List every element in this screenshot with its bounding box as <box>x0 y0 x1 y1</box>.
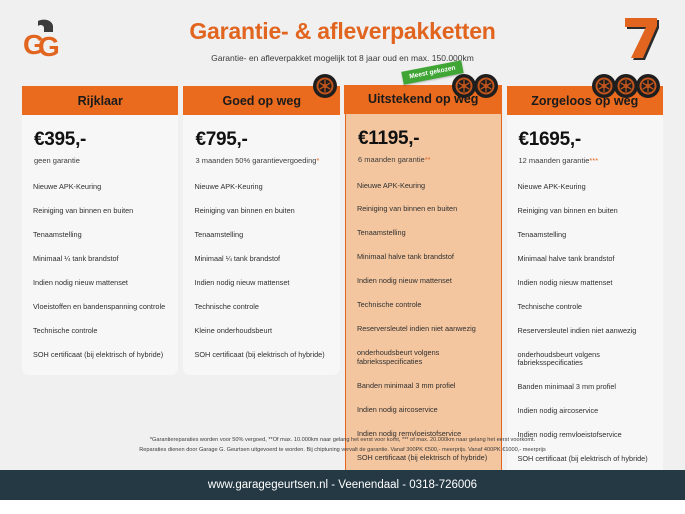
feature-list: Nieuwe APK-Keuring Reiniging van binnen … <box>346 168 501 479</box>
list-item: Technische controle <box>518 303 652 312</box>
page-title: Garantie- & afleverpakketten <box>0 0 685 45</box>
gg-logo-icon: G G <box>22 18 68 60</box>
wheel-rating <box>595 73 661 99</box>
promo-page: G G Garantie- & afleverpakketten Garanti… <box>0 0 685 514</box>
list-item: Indien nodig nieuw mattenset <box>357 277 490 286</box>
list-item: Reiniging van binnen en buiten <box>33 207 167 216</box>
list-item: Indien nodig nieuw mattenset <box>194 279 328 288</box>
feature-list: Nieuwe APK-Keuring Reiniging van binnen … <box>507 169 663 480</box>
list-item: Technische controle <box>194 303 328 312</box>
wheel-rating <box>455 73 499 99</box>
list-item: Tenaamstelling <box>518 231 652 240</box>
page-footer: www.garagegeurtsen.nl - Veenendaal - 031… <box>0 470 685 500</box>
list-item: onderhoudsbeurt volgens fabrieksspecific… <box>357 349 490 367</box>
footnote-line-2: Reparaties dienen door Garage G. Geurtse… <box>60 446 625 456</box>
list-item: Minimaal halve tank brandstof <box>518 255 652 264</box>
card-title: Goed op weg <box>222 94 300 108</box>
list-item: Nieuwe APK-Keuring <box>33 183 167 192</box>
price-block: €795,- 3 maanden 50% garantievergoeding* <box>183 115 339 169</box>
list-item: SOH certificaat (bij elektrisch of hybri… <box>194 351 328 360</box>
footnote-line-1: *Garantiereparaties worden voor 50% verg… <box>60 436 625 446</box>
wheel-icon <box>635 73 661 99</box>
list-item: Indien nodig aircoservice <box>518 407 652 416</box>
list-item: Tenaamstelling <box>357 229 490 238</box>
package-cards: Rijklaar €395,- geen garantie Nieuwe APK… <box>22 86 663 480</box>
list-item: Banden minimaal 3 mm profiel <box>357 382 490 391</box>
price-note-text: 12 maanden garantie <box>519 156 590 165</box>
list-item: Tenaamstelling <box>194 231 328 240</box>
feature-list: Nieuwe APK-Keuring Reiniging van binnen … <box>22 169 178 375</box>
list-item: Nieuwe APK-Keuring <box>194 183 328 192</box>
list-item: SOH certificaat (bij elektrisch of hybri… <box>518 455 652 464</box>
price-block: €1695,- 12 maanden garantie*** <box>507 115 663 169</box>
package-card-goed-op-weg[interactable]: Goed op weg €795,- 3 maanden 50% garanti… <box>183 86 339 375</box>
feature-list: Nieuwe APK-Keuring Reiniging van binnen … <box>183 169 339 375</box>
list-item: Technische controle <box>33 327 167 336</box>
list-item: SOH certificaat (bij elektrisch of hybri… <box>33 351 167 360</box>
package-card-uitstekend-op-weg[interactable]: Meest gekozen <box>345 86 502 479</box>
list-item: Reserversleutel indien niet aanwezig <box>518 327 652 336</box>
price-note-superscript: ** <box>425 155 431 164</box>
card-title: Rijklaar <box>78 94 123 108</box>
list-item: onderhoudsbeurt volgens fabrieksspecific… <box>518 351 652 369</box>
wheel-rating <box>316 73 338 99</box>
price-note: 12 maanden garantie*** <box>519 151 651 165</box>
list-item: Nieuwe APK-Keuring <box>357 182 490 191</box>
price-value: €1195,- <box>358 128 489 150</box>
price-note-text: geen garantie <box>34 156 80 165</box>
page-subtitle: Garantie- en afleverpakket mogelijk tot … <box>0 45 685 63</box>
list-item: Reserversleutel indien niet aanwezig <box>357 325 490 334</box>
price-block: €1195,- 6 maanden garantie** <box>346 114 501 168</box>
list-item: Indien nodig nieuw mattenset <box>33 279 167 288</box>
list-item: Tenaamstelling <box>33 231 167 240</box>
bottom-white-strip <box>0 500 685 514</box>
list-item: Vloeistoffen en bandenspanning controle <box>33 303 167 312</box>
svg-text:G: G <box>38 31 60 60</box>
footer-contact-text[interactable]: www.garagegeurtsen.nl - Veenendaal - 031… <box>208 479 477 491</box>
page-header: G G Garantie- & afleverpakketten Garanti… <box>0 0 685 70</box>
list-item: Kleine onderhoudsbeurt <box>194 327 328 336</box>
list-item: Technische controle <box>357 301 490 310</box>
list-item: Banden minimaal 3 mm profiel <box>518 383 652 392</box>
list-item: Reiniging van binnen en buiten <box>518 207 652 216</box>
price-value: €795,- <box>195 129 327 151</box>
card-header: Rijklaar <box>22 86 178 115</box>
list-item: Indien nodig nieuw mattenset <box>518 279 652 288</box>
list-item: Indien nodig aircoservice <box>357 406 490 415</box>
list-item: Reiniging van binnen en buiten <box>357 205 490 214</box>
package-card-zorgeloos-op-weg[interactable]: Zorgeloos op weg €1695,- 12 maanden gara… <box>507 86 663 480</box>
wheel-icon <box>473 73 499 99</box>
list-item: Minimaal ¼ tank brandstof <box>33 255 167 264</box>
list-item: Minimaal halve tank brandstof <box>357 253 490 262</box>
price-note-text: 3 maanden 50% garantievergoeding <box>195 156 316 165</box>
package-card-rijklaar[interactable]: Rijklaar €395,- geen garantie Nieuwe APK… <box>22 86 178 375</box>
price-note: 3 maanden 50% garantievergoeding* <box>195 151 327 165</box>
seven-logo-icon <box>619 14 663 62</box>
price-value: €395,- <box>34 129 166 151</box>
list-item: Nieuwe APK-Keuring <box>518 183 652 192</box>
price-note-superscript: * <box>316 156 319 165</box>
list-item: Reiniging van binnen en buiten <box>194 207 328 216</box>
price-value: €1695,- <box>519 129 651 151</box>
price-note-text: 6 maanden garantie <box>358 155 425 164</box>
footnote: *Garantiereparaties worden voor 50% verg… <box>0 436 685 456</box>
price-block: €395,- geen garantie <box>22 115 178 169</box>
wheel-icon <box>312 73 338 99</box>
price-note: 6 maanden garantie** <box>358 150 489 164</box>
price-note: geen garantie <box>34 151 166 165</box>
list-item: Minimaal ¼ tank brandstof <box>194 255 328 264</box>
price-note-superscript: *** <box>589 156 598 165</box>
